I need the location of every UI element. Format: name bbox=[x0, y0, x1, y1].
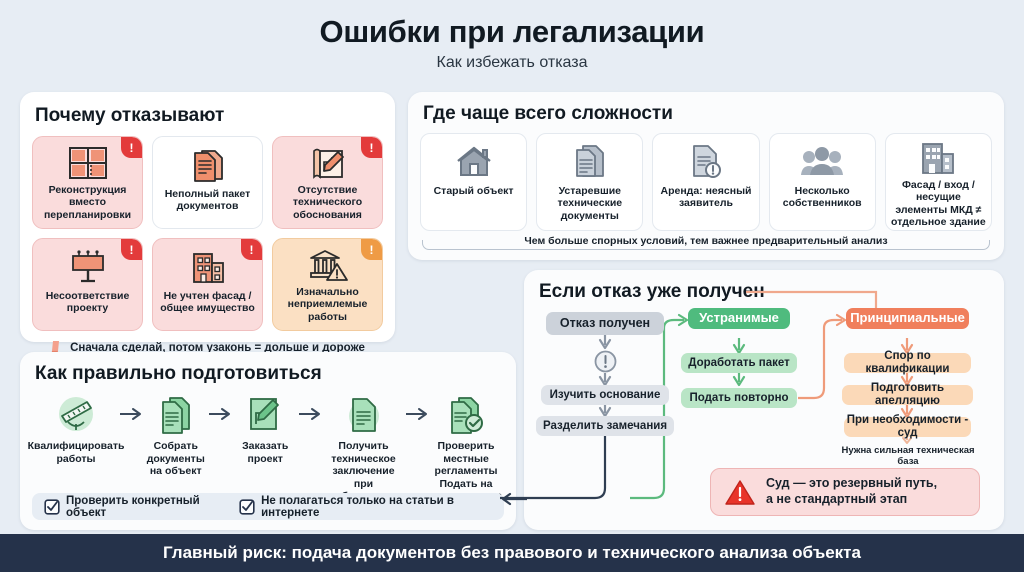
prepare-checks-row: Проверить конкретный объект Не полагатьс… bbox=[32, 493, 504, 520]
alert-badge-icon: ! bbox=[121, 137, 142, 158]
prepare-step-label: Заказать проект bbox=[233, 440, 296, 465]
arrow-right-icon bbox=[207, 391, 233, 437]
court-warning-line2: а не стандартный этап bbox=[766, 492, 907, 506]
alert-badge-icon: ! bbox=[121, 239, 142, 260]
old-documents-icon bbox=[572, 141, 608, 181]
refusal-panel: Если отказ уже получен bbox=[524, 270, 1004, 530]
difficulty-card-label: Фасад / вход / несущие элементы МКД ≠ от… bbox=[890, 179, 987, 228]
difficulty-card-old-object[interactable]: Старый объект bbox=[420, 133, 527, 231]
difficulty-card-label: Устаревшие технические документы bbox=[541, 185, 638, 222]
courthouse-warning-icon bbox=[307, 247, 349, 283]
flow-node-qualification-dispute[interactable]: Спор по квалификации bbox=[844, 353, 971, 373]
court-warning-line1: Суд — это резервный путь, bbox=[766, 476, 937, 490]
reason-card-label: Реконструкция вместо перепланировки bbox=[38, 184, 137, 221]
floorplan-icon bbox=[68, 145, 108, 181]
prepare-panel: Как правильно подготовиться Квалифициров… bbox=[20, 352, 516, 530]
page-title: Ошибки при легализации bbox=[0, 14, 1024, 50]
reason-card-label: Несоответствие проекту bbox=[38, 290, 137, 315]
prepare-step-label: Собрать документы bbox=[144, 440, 207, 465]
prepare-step-check-regulations[interactable]: Проверить местные регламенты Подать на с… bbox=[430, 391, 502, 503]
document-green-icon bbox=[345, 391, 383, 437]
office-building-icon bbox=[919, 141, 957, 175]
difficulties-panel: Где чаще всего сложности Старый объект bbox=[408, 92, 1004, 260]
refusal-flow: Отказ получен Изучить основание Разделит… bbox=[524, 270, 1004, 530]
reasons-panel: Почему отказывают ! Реконструкция вместо… bbox=[20, 92, 395, 342]
reason-card-unacceptable-works[interactable]: ! Изначально неприемлемые работы bbox=[272, 238, 383, 331]
flow-node-refusal-received[interactable]: Отказ получен bbox=[546, 312, 664, 335]
flow-arrow-to-checks-icon bbox=[498, 492, 528, 506]
alert-badge-icon: ! bbox=[361, 239, 382, 260]
difficulty-card-label: Аренда: неясный заявитель bbox=[657, 185, 754, 210]
difficulty-card-label: Старый объект bbox=[434, 185, 514, 197]
prepare-check-label: Не полагаться только на статьи в интерне… bbox=[261, 495, 492, 519]
prepare-steps: Квалифицировать работы Собрать bbox=[32, 391, 504, 503]
difficulty-card-lease-applicant[interactable]: Аренда: неясный заявитель bbox=[652, 133, 759, 231]
flow-node-prepare-appeal[interactable]: Подготовить апелляцию bbox=[842, 385, 973, 405]
reason-card-reconstruction[interactable]: ! Реконструкция вместо перепланировки bbox=[32, 136, 143, 229]
difficulties-row: Старый объект Устаревшие технические док… bbox=[420, 133, 992, 231]
measure-tool-icon bbox=[54, 391, 98, 437]
prepare-step-sub: на объект bbox=[150, 465, 202, 478]
alert-badge-icon: ! bbox=[241, 239, 262, 260]
alert-badge-icon: ! bbox=[361, 137, 382, 158]
flow-node-court-if-needed[interactable]: При необходимости - суд bbox=[844, 417, 971, 437]
court-warning-text: Суд — это резервный путь, а не стандартн… bbox=[766, 476, 937, 507]
blueprint-green-icon bbox=[245, 391, 285, 437]
bottom-banner: Главный риск: подача документов без прав… bbox=[0, 534, 1024, 572]
flow-node-improve-package[interactable]: Доработать пакет bbox=[681, 353, 797, 373]
documents-green-icon bbox=[157, 391, 195, 437]
prepare-step-collect-docs[interactable]: Собрать документы на объект bbox=[144, 391, 207, 478]
difficulty-card-facade-mkd[interactable]: Фасад / вход / несущие элементы МКД ≠ от… bbox=[885, 133, 992, 231]
documents-icon bbox=[190, 145, 226, 185]
prepare-check-label: Проверить конкретный объект bbox=[66, 495, 226, 519]
prepare-check-not-only-internet[interactable]: Не полагаться только на статьи в интерне… bbox=[239, 495, 492, 519]
prepare-step-label: Квалифицировать работы bbox=[28, 440, 125, 465]
reason-card-incomplete-package[interactable]: Неполный пакет документов bbox=[152, 136, 263, 229]
checkbox-checked-icon[interactable] bbox=[239, 499, 255, 515]
reason-card-label: Изначально неприемлемые работы bbox=[278, 286, 377, 323]
billboard-icon bbox=[68, 247, 108, 287]
difficulty-card-label: Несколько собственников bbox=[774, 185, 871, 210]
blueprint-pencil-icon bbox=[308, 145, 348, 181]
court-warning-box: Суд — это резервный путь, а не стандартн… bbox=[710, 468, 980, 516]
flow-node-study-grounds[interactable]: Изучить основание bbox=[541, 385, 669, 405]
difficulty-card-outdated-docs[interactable]: Устаревшие технические документы bbox=[536, 133, 643, 231]
arrow-right-icon bbox=[404, 391, 430, 437]
reason-card-label: Отсутствие технического обоснования bbox=[278, 184, 377, 221]
checkbox-checked-icon[interactable] bbox=[44, 499, 60, 515]
reason-card-label: Не учтен фасад / общее имущество bbox=[158, 290, 257, 315]
reason-card-label: Неполный пакет документов bbox=[158, 188, 257, 213]
arrow-right-icon bbox=[118, 391, 144, 437]
prepare-step-technical-conclusion[interactable]: Получить техническое заключение при необ… bbox=[323, 391, 404, 503]
reasons-grid: ! Реконструкция вместо перепланировки bbox=[32, 136, 383, 331]
prepare-step-order-project[interactable]: Заказать проект bbox=[233, 391, 296, 465]
prepare-check-specific-object[interactable]: Проверить конкретный объект bbox=[44, 495, 226, 519]
people-group-icon bbox=[800, 141, 844, 181]
reason-card-project-mismatch[interactable]: ! Несоответствие проекту bbox=[32, 238, 143, 331]
header: Ошибки при легализации Как избежать отка… bbox=[0, 0, 1024, 72]
prepare-panel-title: Как правильно подготовиться bbox=[35, 363, 504, 385]
bottom-banner-text: Главный риск: подача документов без прав… bbox=[163, 543, 861, 563]
reason-card-no-technical-justification[interactable]: ! Отсутствие технического обоснования bbox=[272, 136, 383, 229]
building-icon bbox=[189, 247, 227, 287]
page-subtitle: Как избежать отказа bbox=[0, 54, 1024, 72]
reason-card-facade-common-property[interactable]: ! Не учтен фасад / общее имущество bbox=[152, 238, 263, 331]
difficulty-card-multiple-owners[interactable]: Несколько собственников bbox=[769, 133, 876, 231]
prepare-step-qualify[interactable]: Квалифицировать работы bbox=[34, 391, 118, 465]
flow-node-fixable[interactable]: Устранимые bbox=[688, 308, 790, 329]
bracket-note-text: Чем больше спорных условий, тем важнее п… bbox=[515, 235, 896, 247]
flow-node-split-remarks[interactable]: Разделить замечания bbox=[536, 416, 674, 436]
warning-triangle-icon bbox=[725, 479, 755, 506]
prepare-step-label: Проверить местные регламенты bbox=[430, 440, 502, 478]
document-alert-icon bbox=[689, 141, 723, 181]
flow-hint-technical-base: Нужна сильная техническая база bbox=[837, 445, 979, 467]
exclamation-circle-icon bbox=[594, 350, 617, 373]
flow-node-fundamental[interactable]: Принципиальные bbox=[846, 308, 969, 329]
arrow-right-icon bbox=[297, 391, 323, 437]
flow-node-resubmit[interactable]: Подать повторно bbox=[681, 388, 797, 408]
house-icon bbox=[454, 141, 494, 181]
reasons-panel-title: Почему отказывают bbox=[35, 105, 383, 127]
difficulties-panel-title: Где чаще всего сложности bbox=[423, 103, 992, 125]
prepare-step-label: Получить техническое заключение bbox=[323, 440, 404, 478]
document-check-icon bbox=[446, 391, 486, 437]
difficulties-bracket-note: Чем больше спорных условий, тем важнее п… bbox=[420, 237, 992, 253]
